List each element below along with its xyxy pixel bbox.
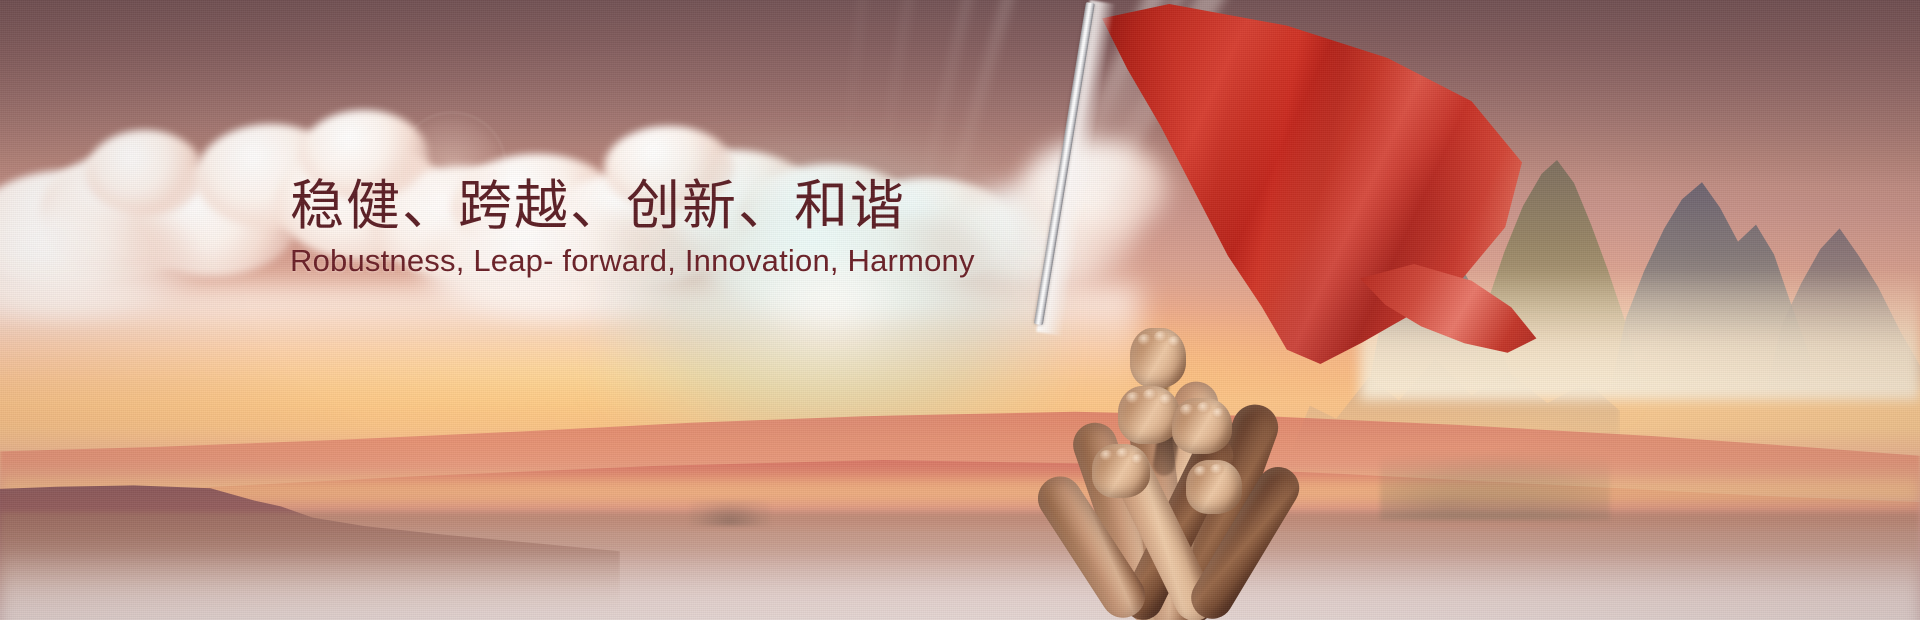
- tree-line: [1380, 450, 1610, 520]
- ground-mist: [0, 546, 1920, 620]
- page-subtitle: Robustness, Leap- forward, Innovation, H…: [290, 242, 970, 279]
- horizon-glow: [0, 470, 1920, 512]
- mesa-plain-terrain: [0, 350, 1920, 620]
- page-title: 稳健、跨越、创新、和谐: [290, 176, 970, 236]
- shrub-cluster: [690, 500, 770, 526]
- hero-banner: ︵ ︵ ︵ ︵ ︵ ︵ ︵: [0, 0, 1920, 620]
- raised-hands-holding-pole: [996, 320, 1356, 620]
- hero-text-block: 稳健、跨越、创新、和谐 Robustness, Leap- forward, I…: [290, 176, 970, 280]
